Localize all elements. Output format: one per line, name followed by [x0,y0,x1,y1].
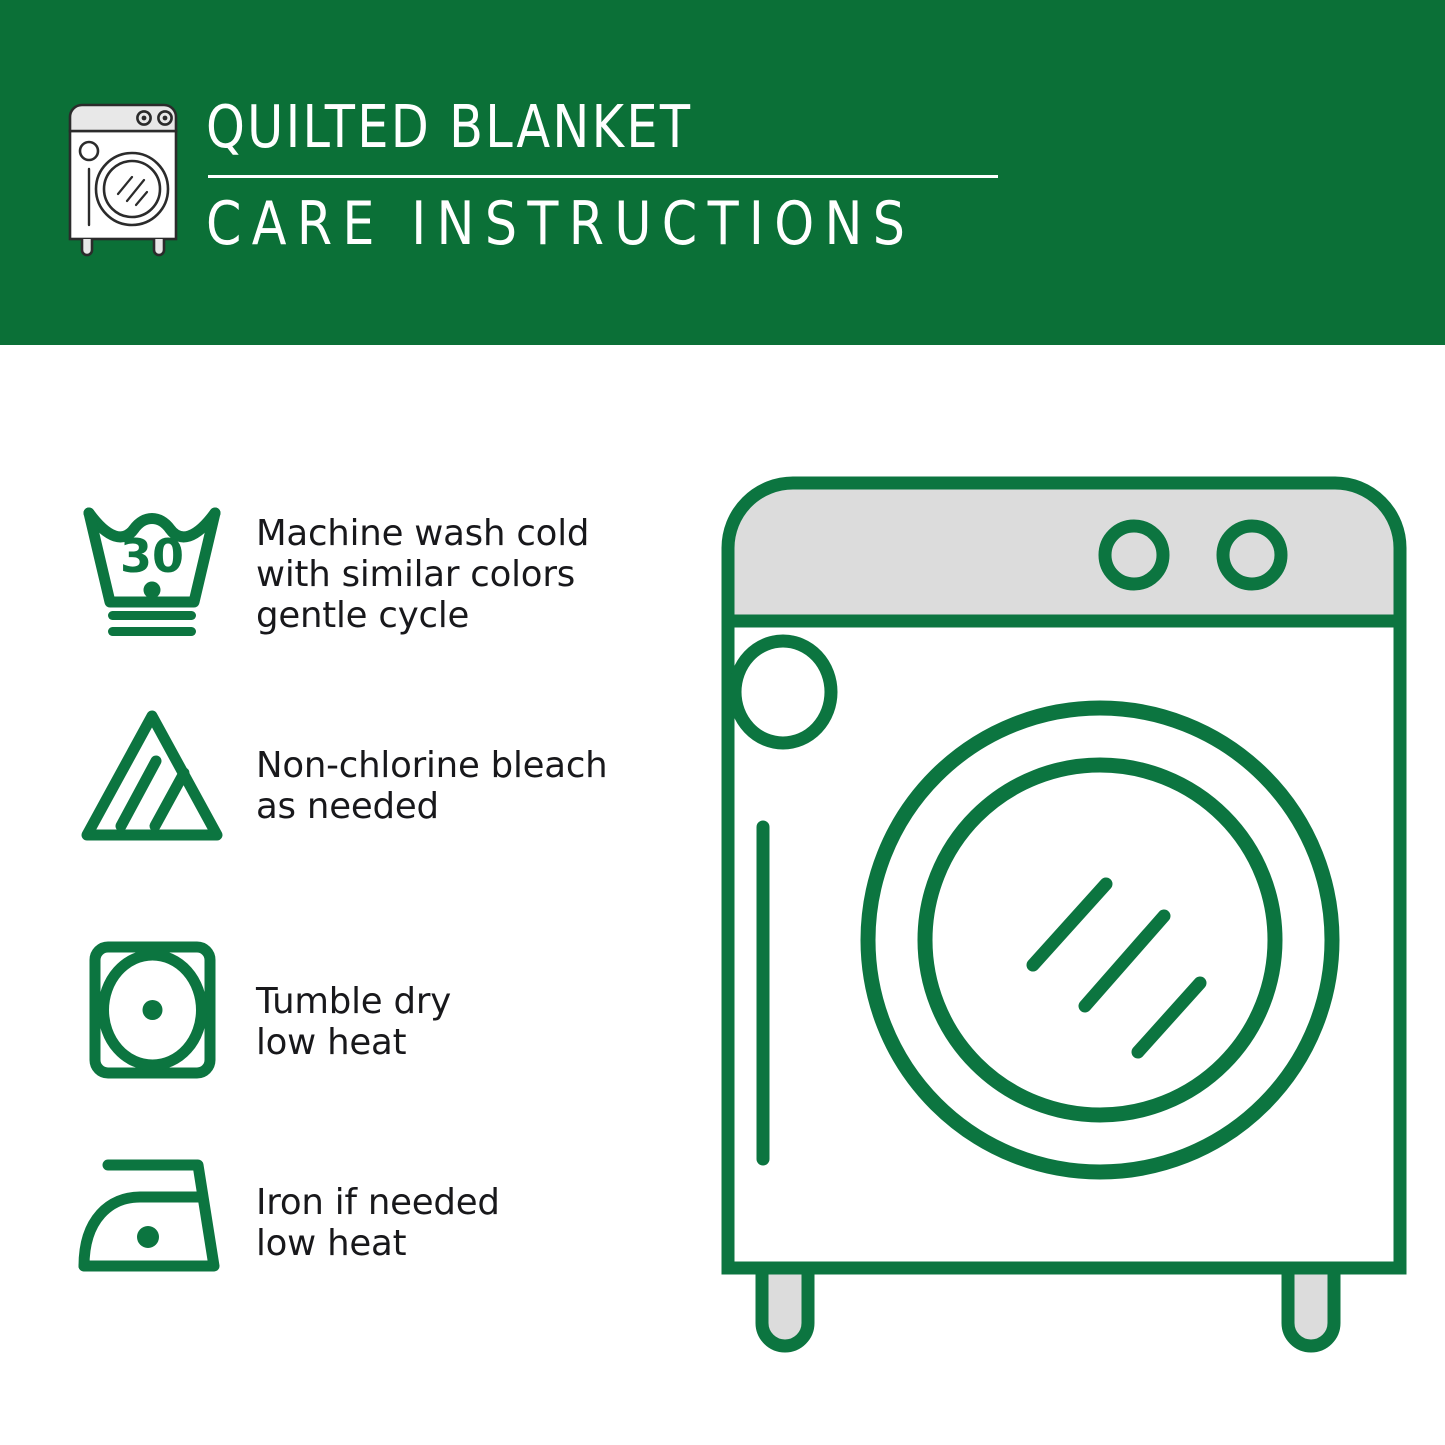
care-instruction-text: Iron if needed low heat [256,1182,500,1264]
title-divider [208,175,998,178]
control-panel [728,483,1400,621]
header-title-group: QUILTED BLANKET CARE INSTRUCTIONS [206,95,998,256]
care-instruction-list: 30 Machine wash cold with similar colors… [0,345,700,1445]
care-instruction-text: Machine wash cold with similar colors ge… [256,513,589,636]
front-load-washing-machine-illustration [700,455,1445,1385]
iron-low-heat-symbol [72,1142,232,1292]
non-chlorine-bleach-triangle-symbol [72,703,232,853]
machine-foot-left [762,1265,808,1346]
machine-foot-right [1288,1265,1334,1346]
washing-machine-icon [62,101,184,261]
care-instruction-text: Non-chlorine bleach as needed [256,745,607,827]
page-subtitle: CARE INSTRUCTIONS [206,192,950,256]
header-content: QUILTED BLANKET CARE INSTRUCTIONS [62,95,998,261]
care-instruction-row: Non-chlorine bleach as needed [72,703,607,853]
care-instruction-row: 30 Machine wash cold with similar colors… [72,493,589,643]
wash-temperature-label: 30 [120,529,184,583]
header-banner: QUILTED BLANKET CARE INSTRUCTIONS [0,0,1445,345]
care-instruction-row: Tumble dry low heat [72,935,451,1085]
machine-wash-30-gentle-symbol: 30 [72,493,232,643]
care-instruction-text: Tumble dry low heat [256,981,451,1063]
page-title: QUILTED BLANKET [206,95,943,159]
tumble-dry-low-heat-symbol [72,935,232,1085]
care-instruction-row: Iron if needed low heat [72,1142,500,1292]
